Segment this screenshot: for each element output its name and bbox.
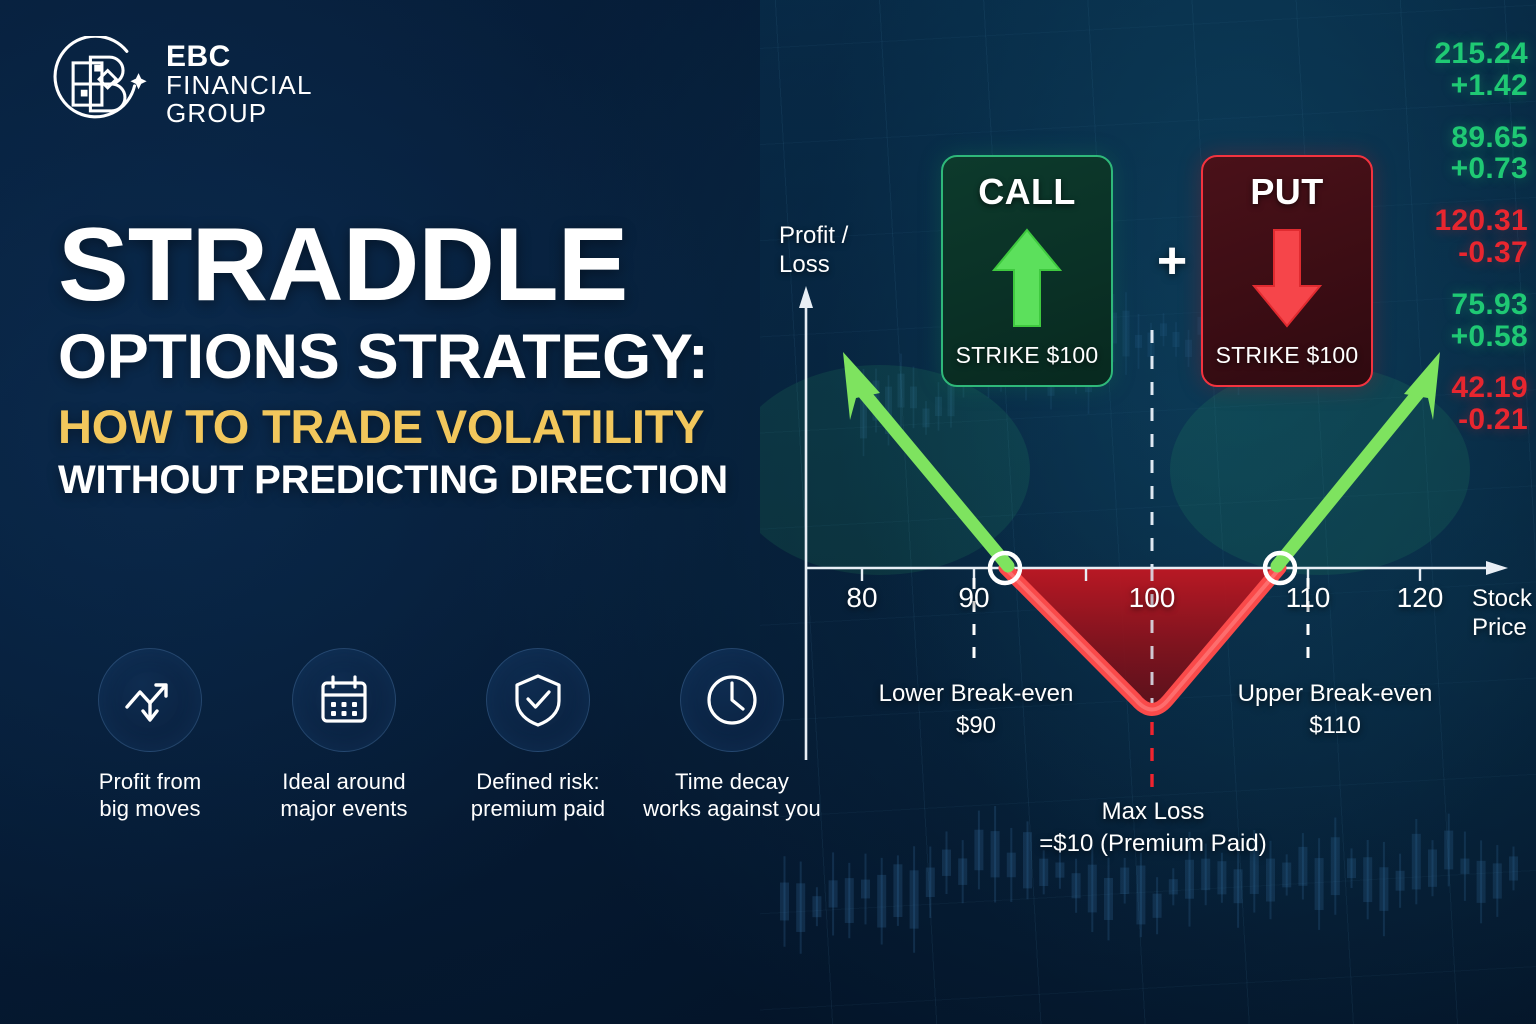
feature-icon-circle bbox=[486, 648, 590, 752]
brand-line-2: FINANCIAL bbox=[166, 72, 313, 100]
quote-price: 215.24 bbox=[1408, 38, 1528, 70]
ticker-quote: 215.24 +1.42 bbox=[1408, 38, 1528, 102]
put-strike-label: STRIKE $100 bbox=[1216, 342, 1359, 369]
feature-icon-circle bbox=[292, 648, 396, 752]
infographic-canvas: EBC FINANCIAL GROUP STRADDLE OPTIONS STR… bbox=[0, 0, 1536, 1024]
ticker-quote: 75.93 +0.58 bbox=[1408, 289, 1528, 353]
x-tick-label-80: 80 bbox=[827, 582, 897, 614]
title-line-4: WITHOUT PREDICTING DIRECTION bbox=[58, 460, 788, 500]
ticker-quote-list: 215.24 +1.42 89.65 +0.73 120.31 -0.37 75… bbox=[1408, 38, 1528, 456]
quote-price: 75.93 bbox=[1408, 289, 1528, 321]
quote-change: +1.42 bbox=[1408, 70, 1528, 102]
put-label: PUT bbox=[1250, 171, 1323, 213]
arrow-up-icon bbox=[990, 226, 1064, 330]
call-leg-card[interactable]: CALL STRIKE $100 bbox=[941, 155, 1113, 387]
arrow-down-icon bbox=[1250, 226, 1324, 330]
ebc-monogram-icon bbox=[52, 36, 148, 132]
call-arrow-wrap bbox=[990, 213, 1064, 342]
feature-label: Defined risk: premium paid bbox=[471, 768, 605, 823]
quote-change: -0.21 bbox=[1408, 404, 1528, 436]
title-line-2: OPTIONS STRATEGY: bbox=[58, 326, 788, 389]
y-axis-label: Profit / Loss bbox=[779, 222, 889, 280]
feature-item-ideal-around-major-events: Ideal around major events bbox=[250, 648, 438, 823]
ticker-quote: 89.65 +0.73 bbox=[1408, 122, 1528, 186]
feature-label: Ideal around major events bbox=[280, 768, 407, 823]
quote-price: 120.31 bbox=[1408, 205, 1528, 237]
quote-price: 42.19 bbox=[1408, 372, 1528, 404]
feature-item-defined-risk: Defined risk: premium paid bbox=[444, 648, 632, 823]
quote-change: +0.58 bbox=[1408, 321, 1528, 353]
quote-change: +0.73 bbox=[1408, 153, 1528, 185]
shield-check-icon bbox=[509, 671, 567, 729]
feature-label: Profit from big moves bbox=[99, 768, 202, 823]
y-axis-arrowhead bbox=[799, 286, 813, 308]
x-tick-label-90: 90 bbox=[939, 582, 1009, 614]
page-title: STRADDLE OPTIONS STRATEGY: HOW TO TRADE … bbox=[58, 216, 788, 500]
clock-icon bbox=[703, 671, 761, 729]
ticker-quote: 42.19 -0.21 bbox=[1408, 372, 1528, 436]
volatility-arrows-icon bbox=[120, 670, 180, 730]
quote-change: -0.37 bbox=[1408, 237, 1528, 269]
left-background-glow bbox=[0, 0, 800, 1024]
brand-logo-text: EBC FINANCIAL GROUP bbox=[166, 41, 313, 128]
ticker-quote: 120.31 -0.37 bbox=[1408, 205, 1528, 269]
title-line-3-accent: HOW TO TRADE VOLATILITY bbox=[58, 403, 788, 450]
brand-line-1: EBC bbox=[166, 41, 313, 73]
put-arrow-wrap bbox=[1250, 213, 1324, 342]
call-label: CALL bbox=[978, 171, 1076, 213]
feature-item-profit-from-big-moves: Profit from big moves bbox=[56, 648, 244, 823]
put-leg-card[interactable]: PUT STRIKE $100 bbox=[1201, 155, 1373, 387]
brand-line-3: GROUP bbox=[166, 100, 313, 128]
brand-logo: EBC FINANCIAL GROUP bbox=[52, 36, 313, 132]
x-tick-label-100: 100 bbox=[1117, 582, 1187, 614]
plus-operator: + bbox=[1152, 235, 1192, 287]
call-strike-label: STRIKE $100 bbox=[956, 342, 1099, 369]
x-tick-label-110: 110 bbox=[1273, 582, 1343, 614]
calendar-icon bbox=[315, 671, 373, 729]
x-tick-label-120: 120 bbox=[1385, 582, 1455, 614]
quote-price: 89.65 bbox=[1408, 122, 1528, 154]
x-axis-label: Stock Price bbox=[1472, 585, 1536, 643]
upper-breakeven-annotation: Upper Break-even $110 bbox=[1200, 678, 1470, 743]
max-loss-annotation: Max Loss =$10 (Premium Paid) bbox=[1018, 796, 1288, 861]
feature-list: Profit from big moves bbox=[56, 648, 826, 823]
title-line-1: STRADDLE bbox=[58, 216, 803, 316]
feature-icon-circle bbox=[98, 648, 202, 752]
lower-breakeven-annotation: Lower Break-even $90 bbox=[846, 678, 1106, 743]
x-axis-arrowhead bbox=[1486, 561, 1508, 575]
